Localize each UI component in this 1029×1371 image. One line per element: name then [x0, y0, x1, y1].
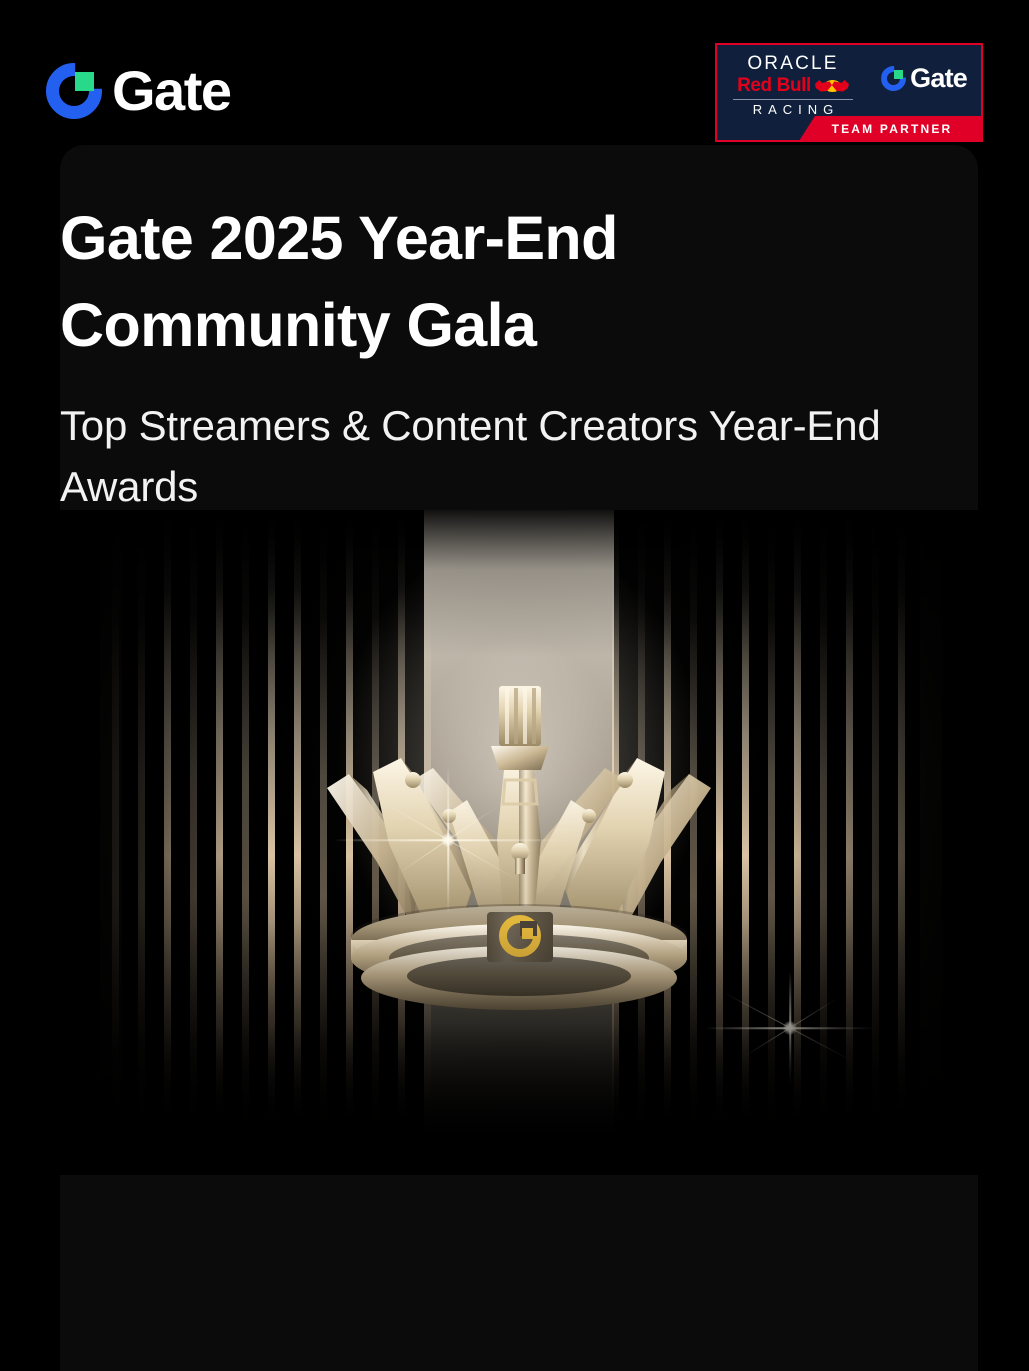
gate-logo-icon: [46, 63, 102, 119]
badge-divider: [733, 99, 853, 100]
announcement-page: Gate ORACLE Red Bull RACING: [0, 0, 1029, 1371]
team-partner-label: TEAM PARTNER: [830, 123, 953, 135]
red-bull-bulls-icon: [815, 77, 849, 94]
oracle-wordmark: ORACLE: [731, 54, 855, 73]
image-bottom-fade: [60, 1025, 978, 1175]
red-bull-racing-lockup: ORACLE Red Bull RACING: [731, 54, 855, 116]
gate-logo-icon: [881, 66, 906, 91]
oracle-red-bull-racing-partner-badge[interactable]: ORACLE Red Bull RACING: [715, 43, 983, 142]
crown-hero-image: [60, 510, 978, 1175]
racing-wordmark: RACING: [731, 103, 855, 116]
card-text-block: Gate 2025 Year-End Community Gala Top St…: [60, 145, 978, 518]
gate-brand-name: Gate: [112, 63, 231, 119]
gate-brand-logo[interactable]: Gate: [46, 63, 231, 119]
page-subtitle: Top Streamers & Content Creators Year-En…: [60, 396, 978, 518]
page-title: Gate 2025 Year-End Community Gala: [60, 195, 978, 368]
team-partner-banner: TEAM PARTNER: [799, 116, 983, 141]
badge-gate-name: Gate: [910, 65, 967, 92]
badge-gate-logo: Gate: [881, 65, 967, 92]
red-bull-wordmark: Red Bull: [737, 76, 811, 95]
page-header: Gate ORACLE Red Bull RACING: [0, 0, 1029, 145]
announcement-card: Gate 2025 Year-End Community Gala Top St…: [60, 145, 978, 1371]
